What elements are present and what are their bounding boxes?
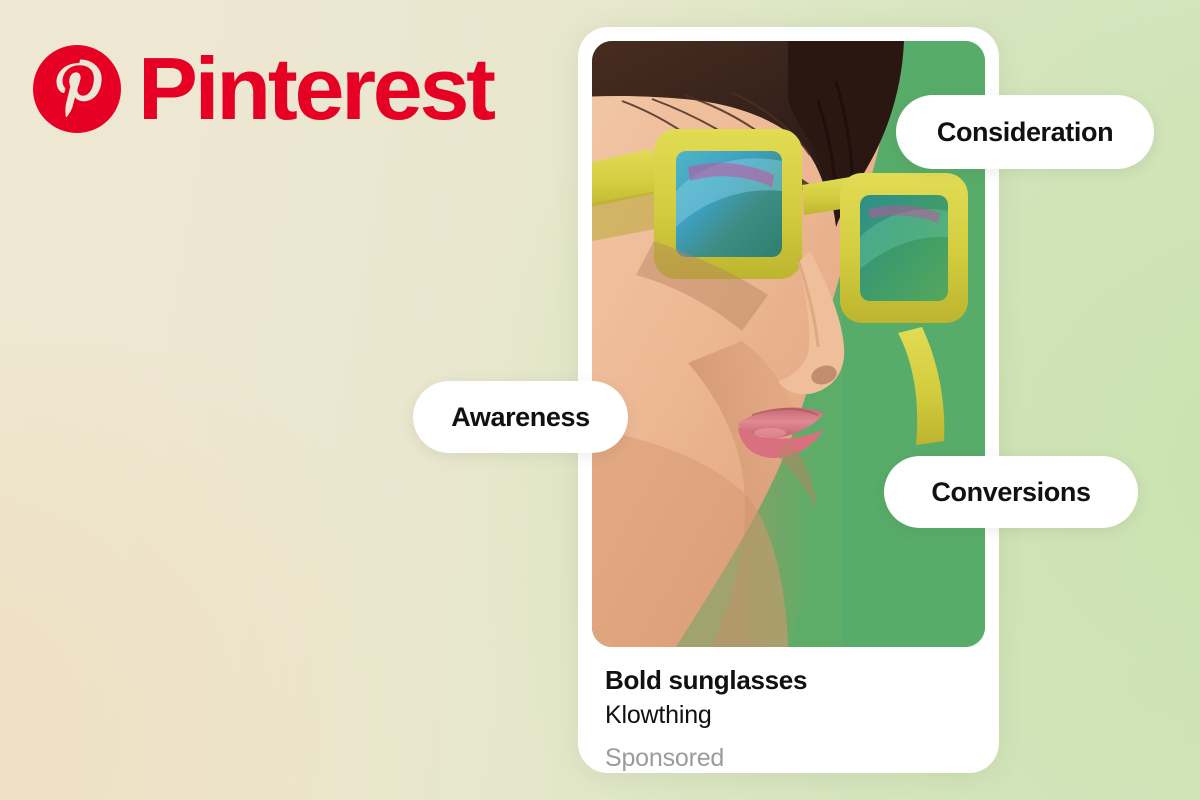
- pin-meta: Bold sunglasses Klowthing Sponsored: [605, 663, 979, 773]
- pill-consideration[interactable]: Consideration: [896, 95, 1154, 169]
- pinterest-wordmark: Pinterest: [138, 45, 493, 133]
- pinterest-logo: Pinterest: [33, 45, 486, 133]
- sponsored-label: Sponsored: [605, 740, 979, 773]
- pin-title: Bold sunglasses: [605, 663, 979, 697]
- pinterest-p-icon: [33, 45, 121, 133]
- pill-awareness[interactable]: Awareness: [413, 381, 628, 453]
- pin-brand-name[interactable]: Klowthing: [605, 697, 979, 733]
- pill-conversions[interactable]: Conversions: [884, 456, 1138, 528]
